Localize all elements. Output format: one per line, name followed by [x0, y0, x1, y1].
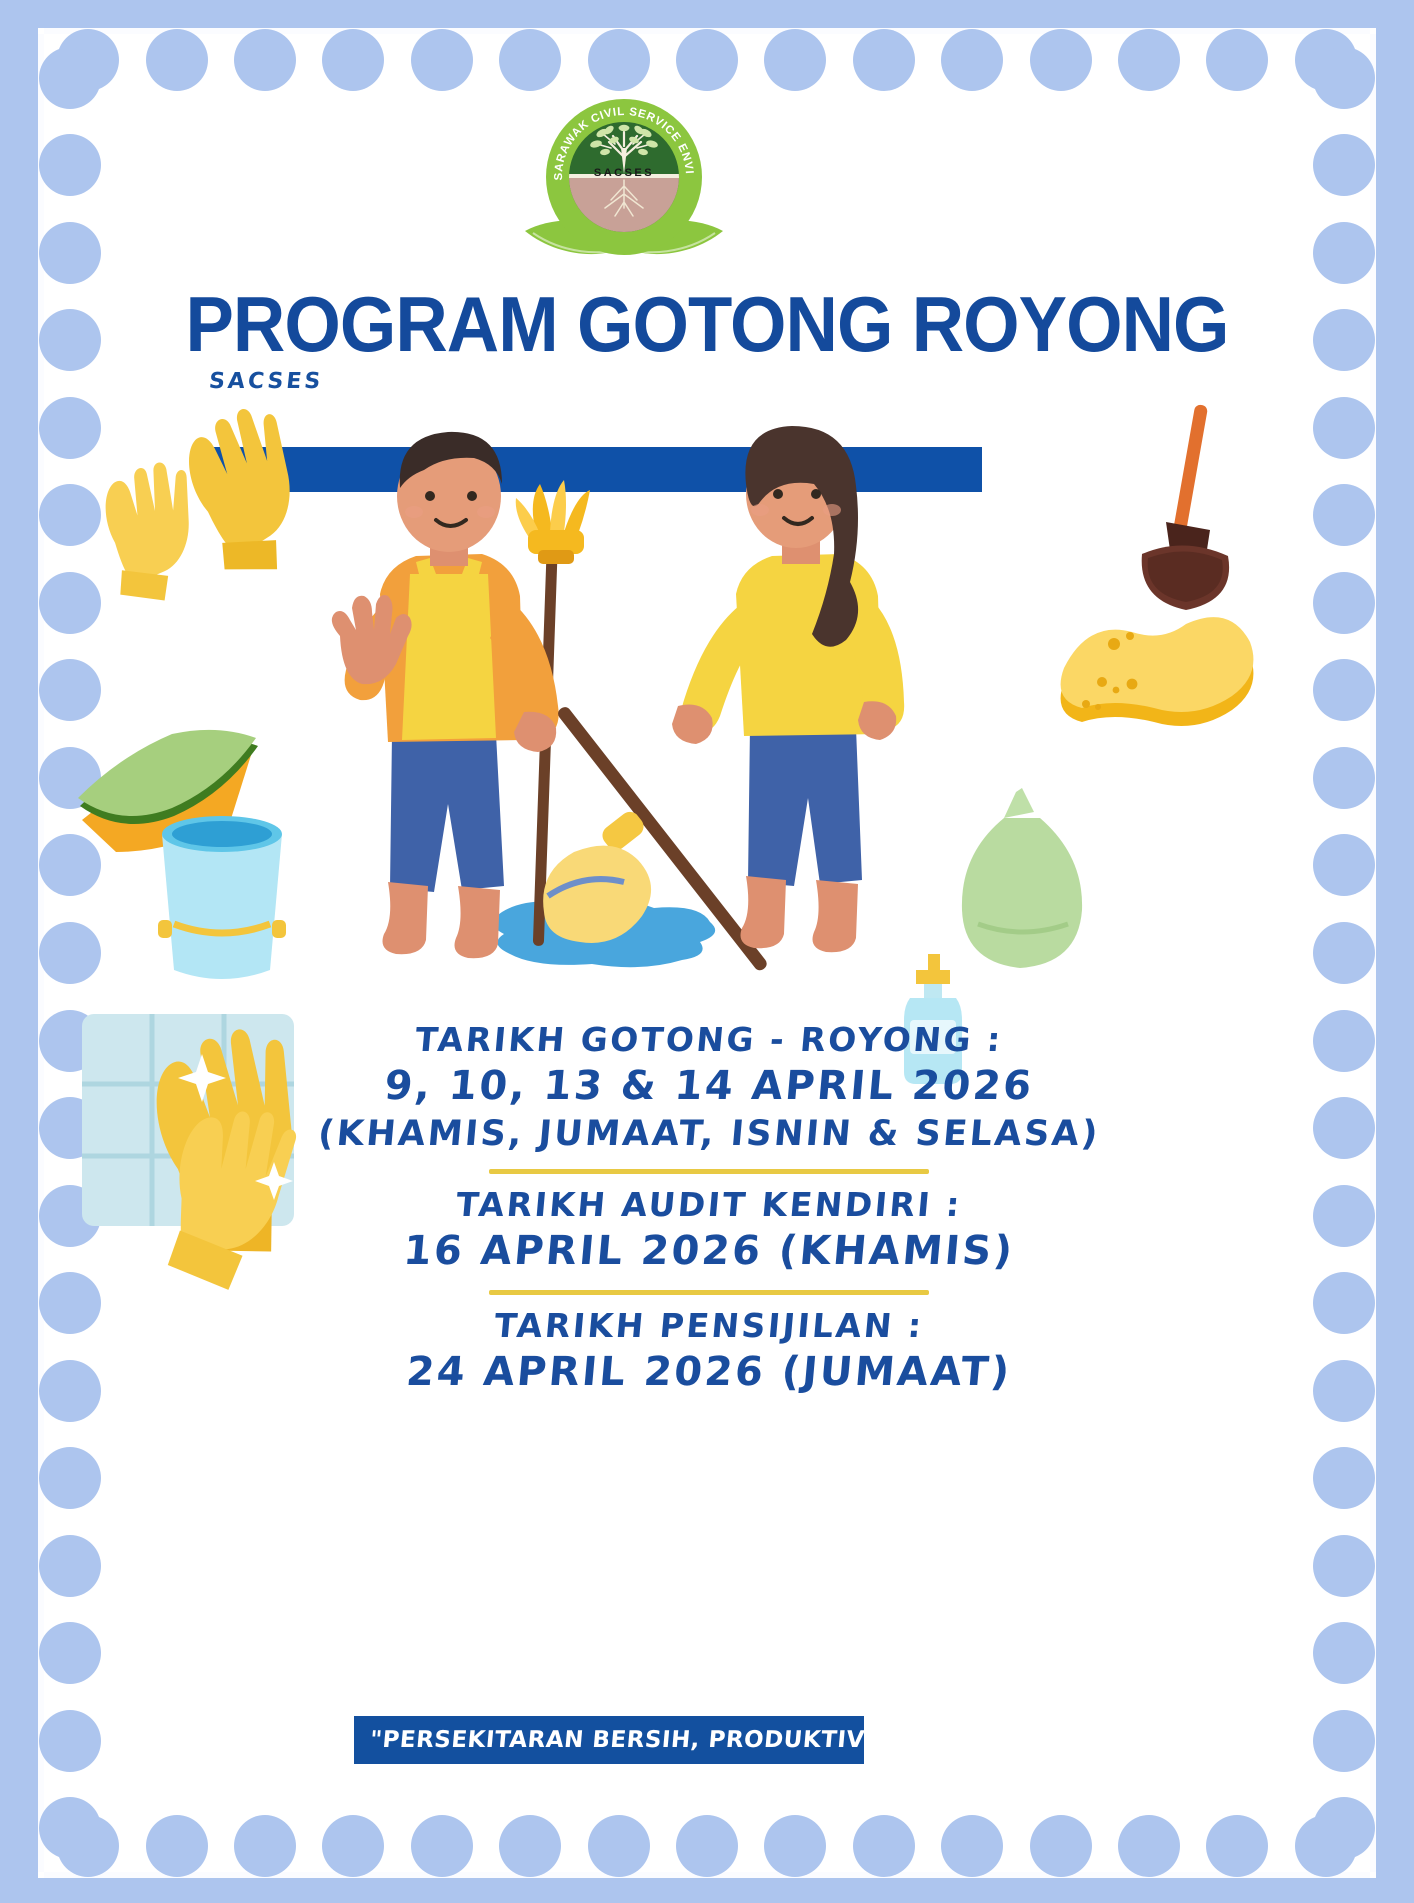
garbage-bag-right: [962, 788, 1082, 968]
poster-content: STANDARD SARAWAK CIVIL SERVICE ENVIRONME…: [44, 34, 1370, 1872]
divider-gold-1: [489, 1169, 929, 1174]
illustration-layer: [44, 34, 1370, 1872]
dates-block: TARIKH GOTONG - ROYONG : 9, 10, 13 & 14 …: [244, 1019, 1174, 1398]
gotong-royong-label: TARIKH GOTONG - ROYONG :: [242, 1019, 1176, 1061]
yellow-sponge-right: [1061, 617, 1254, 726]
audit-label: TARIKH AUDIT KENDIRI :: [242, 1184, 1176, 1226]
audit-date: 16 APRIL 2026 (KHAMIS): [242, 1226, 1176, 1277]
logo-center-label: SACSES: [569, 167, 679, 179]
pensijilan-date: 24 APRIL 2026 (JUMAAT): [242, 1347, 1176, 1398]
divider-gold-2: [489, 1290, 929, 1295]
rubber-gloves-pair-top-left: [100, 400, 320, 607]
plunger-right: [1142, 404, 1229, 610]
blue-bucket-left: [158, 816, 286, 979]
woman-with-mop: [543, 426, 904, 973]
pensijilan-label: TARIKH PENSIJILAN :: [242, 1305, 1176, 1347]
tagline-text: "PERSEKITARAN BERSIH, PRODUKTIVITI MENIN…: [354, 1716, 864, 1764]
gotong-royong-date: 9, 10, 13 & 14 APRIL 2026: [242, 1061, 1176, 1112]
tagline-banner: "PERSEKITARAN BERSIH, PRODUKTIVITI MENIN…: [354, 1716, 864, 1764]
poster-canvas: STANDARD SARAWAK CIVIL SERVICE ENVIRONME…: [0, 0, 1414, 1903]
gotong-royong-days: (KHAMIS, JUMAAT, ISNIN & SELASA): [242, 1112, 1176, 1157]
